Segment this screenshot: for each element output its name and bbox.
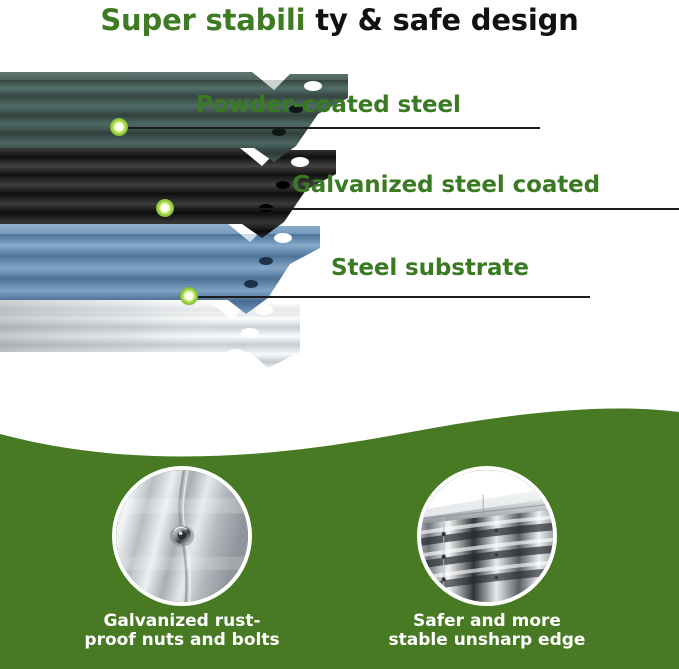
marker-dot-substrate [180, 287, 198, 305]
infographic-page: Super stabili ty & safe design [0, 0, 679, 669]
page-title-black-text: ty & safe design [305, 3, 578, 37]
marker-dot-powder-coated [110, 118, 128, 136]
feature-caption-bolts: Galvanized rust- proof nuts and bolts [67, 612, 297, 650]
leader-line-galvanized [170, 208, 679, 210]
callout-label-steel-substrate: Steel substrate [331, 255, 529, 281]
marker-dot-galvanized [156, 199, 174, 217]
leader-line-powder-coated [120, 127, 540, 129]
callout-label-powder-coated-steel: Powder-coated steel [196, 92, 461, 118]
feature-image-galvanized-bolt [112, 466, 252, 606]
feature-caption-edge: Safer and more stable unsharp edge [372, 612, 602, 650]
page-title-green-text: Super stabili [100, 3, 305, 37]
feature-image-corrugated-edge [417, 466, 557, 606]
leader-line-substrate [190, 296, 590, 298]
page-title: Super stabili ty & safe design [0, 1, 679, 39]
callout-label-galvanized-steel-coated: Galvanized steel coated [292, 172, 600, 198]
